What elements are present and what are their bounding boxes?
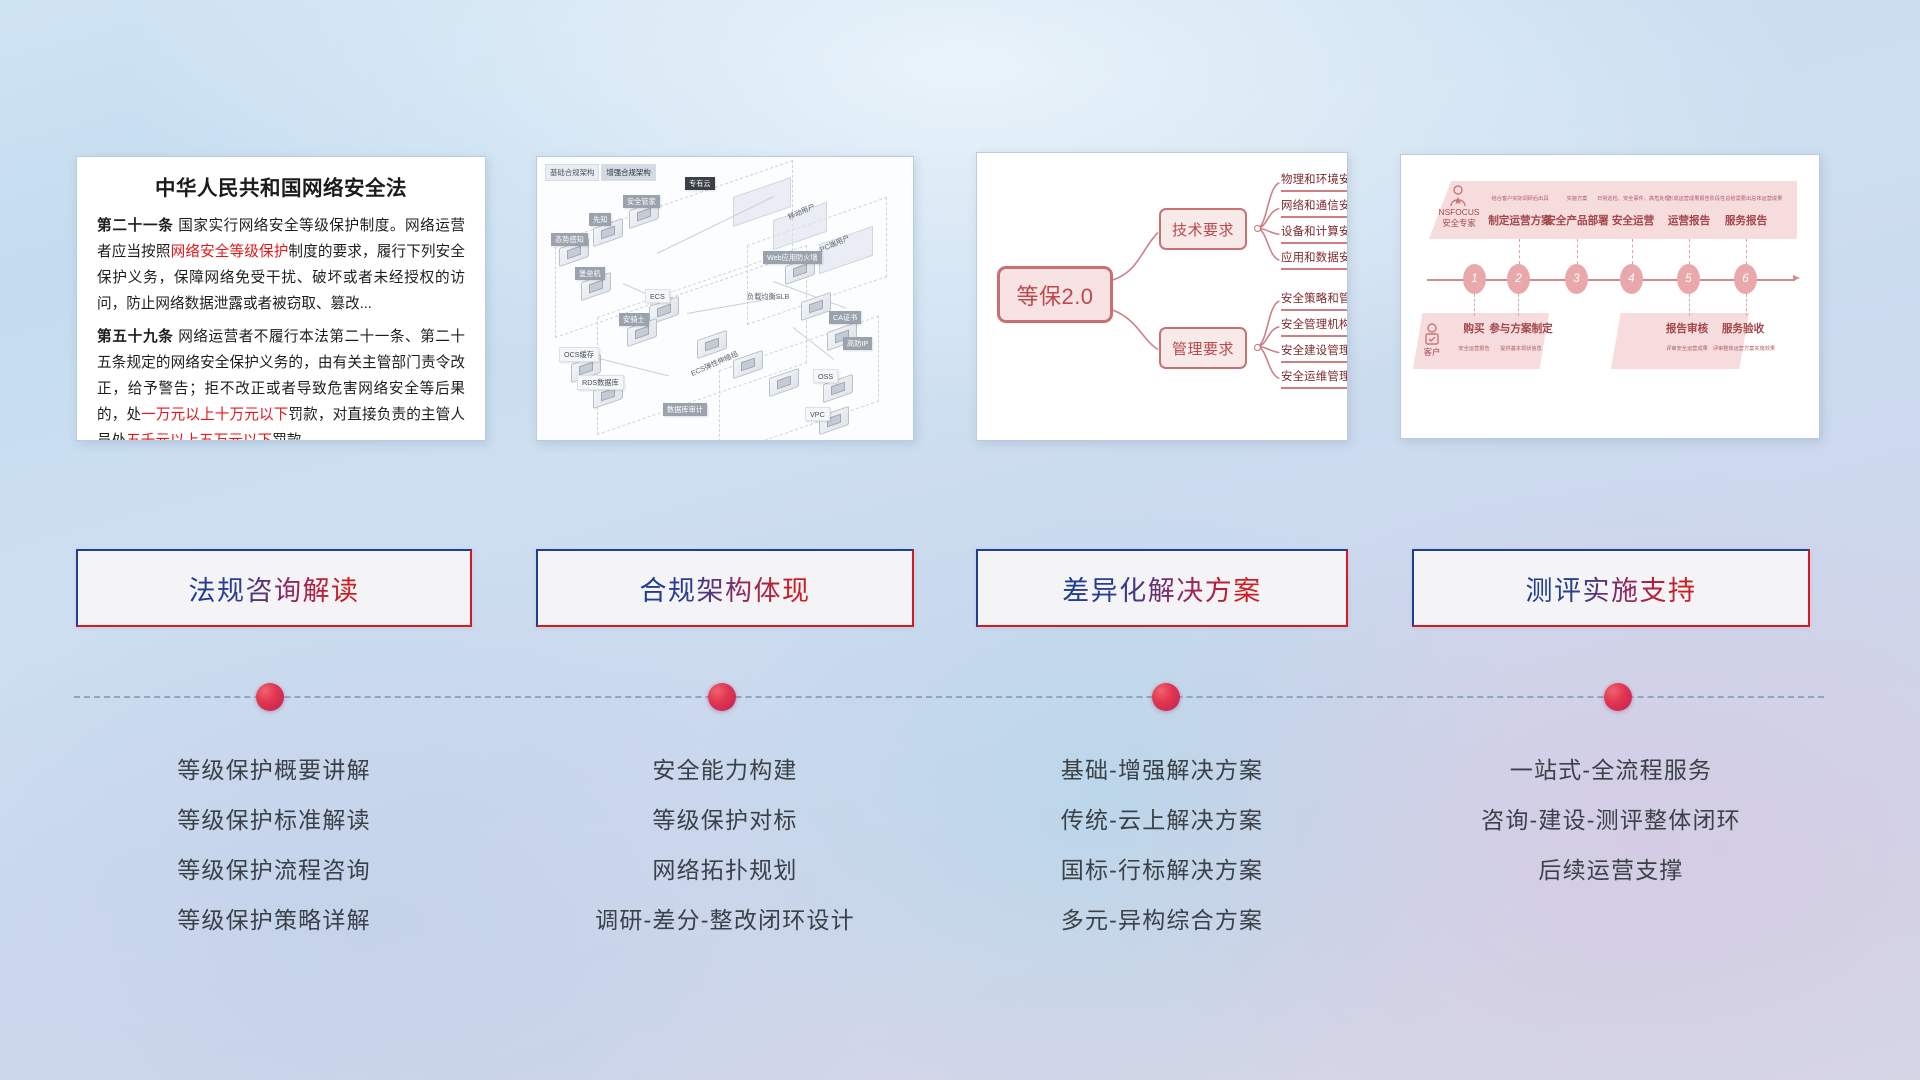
article-number: 第二十一条	[97, 218, 174, 234]
list-item: 咨询-建设-测评整体闭环	[1412, 795, 1810, 845]
list-item: 多元-异构综合方案	[976, 895, 1348, 945]
node-label-anqishi: 安骑士	[619, 313, 649, 326]
step-connector	[1519, 239, 1520, 264]
server-node	[697, 335, 727, 354]
cloud-architecture-diagram: 基础合规架构 增强合规架构	[537, 157, 913, 440]
architecture-tab-strip[interactable]: 基础合规架构 增强合规架构	[545, 164, 656, 181]
list-item: 安全能力构建	[536, 745, 914, 795]
node-label-waf: Web应用防火墙	[763, 251, 822, 264]
article-number: 第五十九条	[97, 329, 174, 345]
customer-persona: 客户	[1419, 347, 1445, 358]
pillar-detail-list-2: 安全能力构建 等级保护对标 网络拓扑规划 调研-差分-整改闭环设计	[536, 745, 914, 945]
pillar-detail-list-4: 一站式-全流程服务 咨询-建设-测评整体闭环 后续运营支撑	[1412, 745, 1810, 895]
pillar-title-row: 法规咨询解读 合规架构体现 差异化解决方案 测评实施支持	[0, 549, 1920, 627]
law-document-title: 中华人民共和国网络安全法	[97, 171, 465, 201]
node-label-security-butler: 安全管家	[623, 195, 660, 208]
timeline-bullet-3[interactable]	[1152, 683, 1180, 711]
timeline-bullet-1[interactable]	[256, 683, 284, 711]
card-cloud-architecture[interactable]: 基础合规架构 增强合规架构	[536, 156, 914, 441]
pillar-title-text: 法规咨询解读	[189, 569, 360, 608]
step-label: 安全运营	[1606, 213, 1660, 228]
pillar-detail-list-1: 等级保护概要讲解 等级保护标准解读 等级保护流程咨询 等级保护策略详解	[76, 745, 472, 945]
step-sub: 提供基本现状信息	[1487, 345, 1555, 352]
article-text-highlight-2: 五千元以上五万元以下	[126, 433, 272, 441]
pillar-title-box-3[interactable]: 差异化解决方案	[976, 549, 1348, 627]
card-service-timeline[interactable]: NSFOCUS 安全专家 客户 1 2 3 4 5	[1400, 154, 1820, 439]
node-label-ocs-cache: OCS缓存	[559, 347, 599, 362]
step-label: 服务验收	[1719, 321, 1767, 336]
step-label: 参与方案制定	[1487, 321, 1555, 336]
mindmap-branch-management[interactable]: 管理要求	[1159, 327, 1247, 369]
step-connector	[1689, 239, 1690, 264]
mindmap-leaf: 安全策略和管理制度	[1281, 290, 1348, 311]
progress-timeline-line	[74, 696, 1824, 698]
architecture-tab-basic[interactable]: 基础合规架构	[545, 164, 599, 181]
timeline-bullet-2[interactable]	[708, 683, 736, 711]
step-connector	[1474, 294, 1475, 316]
mindmap-leaf: 物理和环境安全	[1281, 171, 1348, 192]
pillar-detail-row: 等级保护概要讲解 等级保护标准解读 等级保护流程咨询 等级保护策略详解 安全能力…	[0, 745, 1920, 1035]
node-label-anti-ddos-ip: 高防IP	[843, 337, 872, 350]
node-label-ecs: ECS	[645, 289, 670, 303]
list-item: 等级保护策略详解	[76, 895, 472, 945]
architecture-tab-enhanced[interactable]: 增强合规架构	[601, 164, 655, 181]
step-label: 安全产品部署	[1542, 213, 1612, 228]
mindmap-leaf: 安全运维管理	[1281, 368, 1348, 389]
card-cybersecurity-law[interactable]: 中华人民共和国网络安全法 第二十一条 国家实行网络安全等级保护制度。网络运营者应…	[76, 156, 486, 441]
pillar-title-text: 差异化解决方案	[1062, 569, 1262, 608]
timeline-bullet-4[interactable]	[1604, 683, 1632, 711]
list-item: 国标-行标解决方案	[976, 845, 1348, 895]
mindmap-root-node[interactable]: 等保2.0	[997, 266, 1113, 323]
mindmap-leaf: 设备和计算安全	[1281, 223, 1348, 244]
timeline-step-node[interactable]: 4	[1620, 264, 1643, 294]
timeline-step-node[interactable]: 3	[1565, 264, 1588, 294]
node-label-private-cloud: 专有云	[685, 177, 715, 190]
step-connector	[1577, 239, 1578, 264]
law-article-21: 第二十一条 国家实行网络安全等级保护制度。网络运营者应当按照网络安全等级保护制度…	[97, 214, 465, 318]
law-article-59: 第五十九条 网络运营者不履行本法第二十一条、第二十五条规定的网络安全保护义务的，…	[97, 325, 465, 441]
image-card-row: 中华人民共和国网络安全法 第二十一条 国家实行网络安全等级保护制度。网络运营者应…	[0, 150, 1920, 440]
list-item: 传统-云上解决方案	[976, 795, 1348, 845]
pillar-title-box-2[interactable]: 合规架构体现	[536, 549, 914, 627]
pillar-title-text: 合规架构体现	[640, 569, 811, 608]
step-connector	[1689, 294, 1690, 316]
mindmap-leaf: 安全建设管理	[1281, 342, 1348, 363]
mindmap-leaf: 网络和通信安全	[1281, 197, 1348, 218]
pillar-title-box-1[interactable]: 法规咨询解读	[76, 549, 472, 627]
list-item: 一站式-全流程服务	[1412, 745, 1810, 795]
customer-icon	[1423, 323, 1441, 345]
article-text-highlight: 网络安全等级保护	[171, 244, 289, 260]
step-label: 报告审核	[1663, 321, 1711, 336]
server-node	[801, 297, 831, 316]
mindmap-leaf: 安全管理机构和人员	[1281, 316, 1348, 337]
node-label-vpc: VPC	[805, 407, 830, 421]
server-node	[649, 301, 679, 320]
mindmap-collapse-dot-management[interactable]	[1254, 344, 1261, 351]
step-label: 服务报告	[1724, 213, 1768, 228]
list-item: 等级保护标准解读	[76, 795, 472, 845]
timeline-arrow-icon	[1793, 275, 1800, 281]
provider-name: NSFOCUS	[1433, 207, 1485, 218]
timeline-step-node[interactable]: 5	[1677, 264, 1700, 294]
mindmap: 等保2.0 技术要求 物理和环境安全 网络和通信安全 设备和计算安全 应用和数据…	[977, 153, 1347, 440]
server-node	[769, 373, 799, 392]
mindmap-collapse-dot-technical[interactable]	[1254, 225, 1261, 232]
security-expert-icon	[1448, 185, 1468, 207]
node-label-situational-awareness: 态势感知	[551, 233, 588, 246]
service-timeline: NSFOCUS 安全专家 客户 1 2 3 4 5	[1401, 155, 1819, 438]
step-sub: 评审整体运营方案实施效果	[1707, 345, 1781, 352]
mindmap-branch-technical[interactable]: 技术要求	[1159, 208, 1247, 250]
list-item: 等级保护对标	[536, 795, 914, 845]
list-item: 后续运营支撑	[1412, 845, 1810, 895]
timeline-step-node[interactable]: 2	[1507, 264, 1530, 294]
step-label: 运营报告	[1667, 213, 1711, 228]
step-connector	[1632, 239, 1633, 264]
timeline-step-node[interactable]: 1	[1463, 264, 1486, 294]
step-connector	[1518, 294, 1519, 316]
provider-persona: NSFOCUS 安全专家	[1433, 207, 1485, 228]
provider-role: 安全专家	[1433, 218, 1485, 229]
node-label-rds-database: RDS数据库	[577, 375, 624, 390]
pillar-title-text: 测评实施支持	[1526, 569, 1697, 608]
card-dengbao-mindmap[interactable]: 等保2.0 技术要求 物理和环境安全 网络和通信安全 设备和计算安全 应用和数据…	[976, 152, 1348, 441]
list-item: 等级保护流程咨询	[76, 845, 472, 895]
node-label-database-audit: 数据库审计	[663, 403, 707, 416]
article-text-highlight: 一万元以上十万元以下	[141, 407, 288, 423]
list-item: 基础-增强解决方案	[976, 745, 1348, 795]
mindmap-leaf: 应用和数据安全	[1281, 249, 1348, 270]
list-item: 网络拓扑规划	[536, 845, 914, 895]
node-label-bastion-host: 堡垒机	[575, 267, 605, 280]
step-sub: 阶段性总结需要出总体运营成果	[1709, 195, 1783, 202]
node-label-slb: 负载均衡SLB	[743, 290, 793, 303]
article-text-plain-3: 罚款。	[272, 433, 316, 441]
law-document: 中华人民共和国网络安全法 第二十一条 国家实行网络安全等级保护制度。网络运营者应…	[77, 157, 485, 441]
pillar-detail-list-3: 基础-增强解决方案 传统-云上解决方案 国标-行标解决方案 多元-异构综合方案	[976, 745, 1348, 945]
step-connector	[1746, 294, 1747, 316]
node-label-ca-certificate: CA证书	[829, 311, 861, 324]
slide-canvas: 中华人民共和国网络安全法 第二十一条 国家实行网络安全等级保护制度。网络运营者应…	[0, 0, 1920, 1080]
timeline-step-node[interactable]: 6	[1734, 264, 1757, 294]
node-label-xianzhi: 先知	[589, 213, 611, 226]
list-item: 调研-差分-整改闭环设计	[536, 895, 914, 945]
pillar-title-box-4[interactable]: 测评实施支持	[1412, 549, 1810, 627]
node-label-oss: OSS	[813, 369, 838, 383]
step-connector	[1746, 239, 1747, 264]
list-item: 等级保护概要讲解	[76, 745, 472, 795]
